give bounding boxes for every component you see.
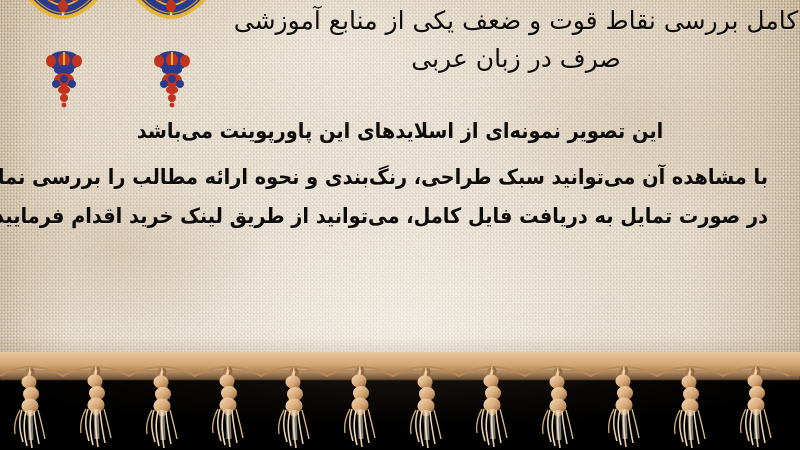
slide-title-line-1: کامل بررسی نقاط قوت و ضعف یکی از منابع آ…	[232, 2, 800, 40]
carpet-medallion-icon-right	[124, 0, 218, 50]
carpet-pendant-icon-left	[42, 48, 86, 108]
knotted-tassel-fringe	[0, 352, 800, 450]
carpet-medallion-icon-left	[16, 0, 110, 50]
carpet-pendant-icon-right	[150, 48, 194, 108]
slide-body-text: این تصویر نمونه‌ای از اسلایدهای این پاور…	[32, 112, 768, 236]
body-line-1: این تصویر نمونه‌ای از اسلایدهای این پاور…	[32, 112, 768, 151]
body-line-3: در صورت تمایل به دریافت فایل کامل، می‌تو…	[32, 197, 768, 236]
presentation-slide: کامل بررسی نقاط قوت و ضعف یکی از منابع آ…	[0, 0, 800, 450]
slide-title-line-2: صرف در زبان عربی	[232, 40, 800, 78]
body-line-2: با مشاهده آن می‌توانید سبک طراحی، رنگ‌بن…	[32, 158, 768, 197]
slide-title: کامل بررسی نقاط قوت و ضعف یکی از منابع آ…	[232, 2, 800, 78]
